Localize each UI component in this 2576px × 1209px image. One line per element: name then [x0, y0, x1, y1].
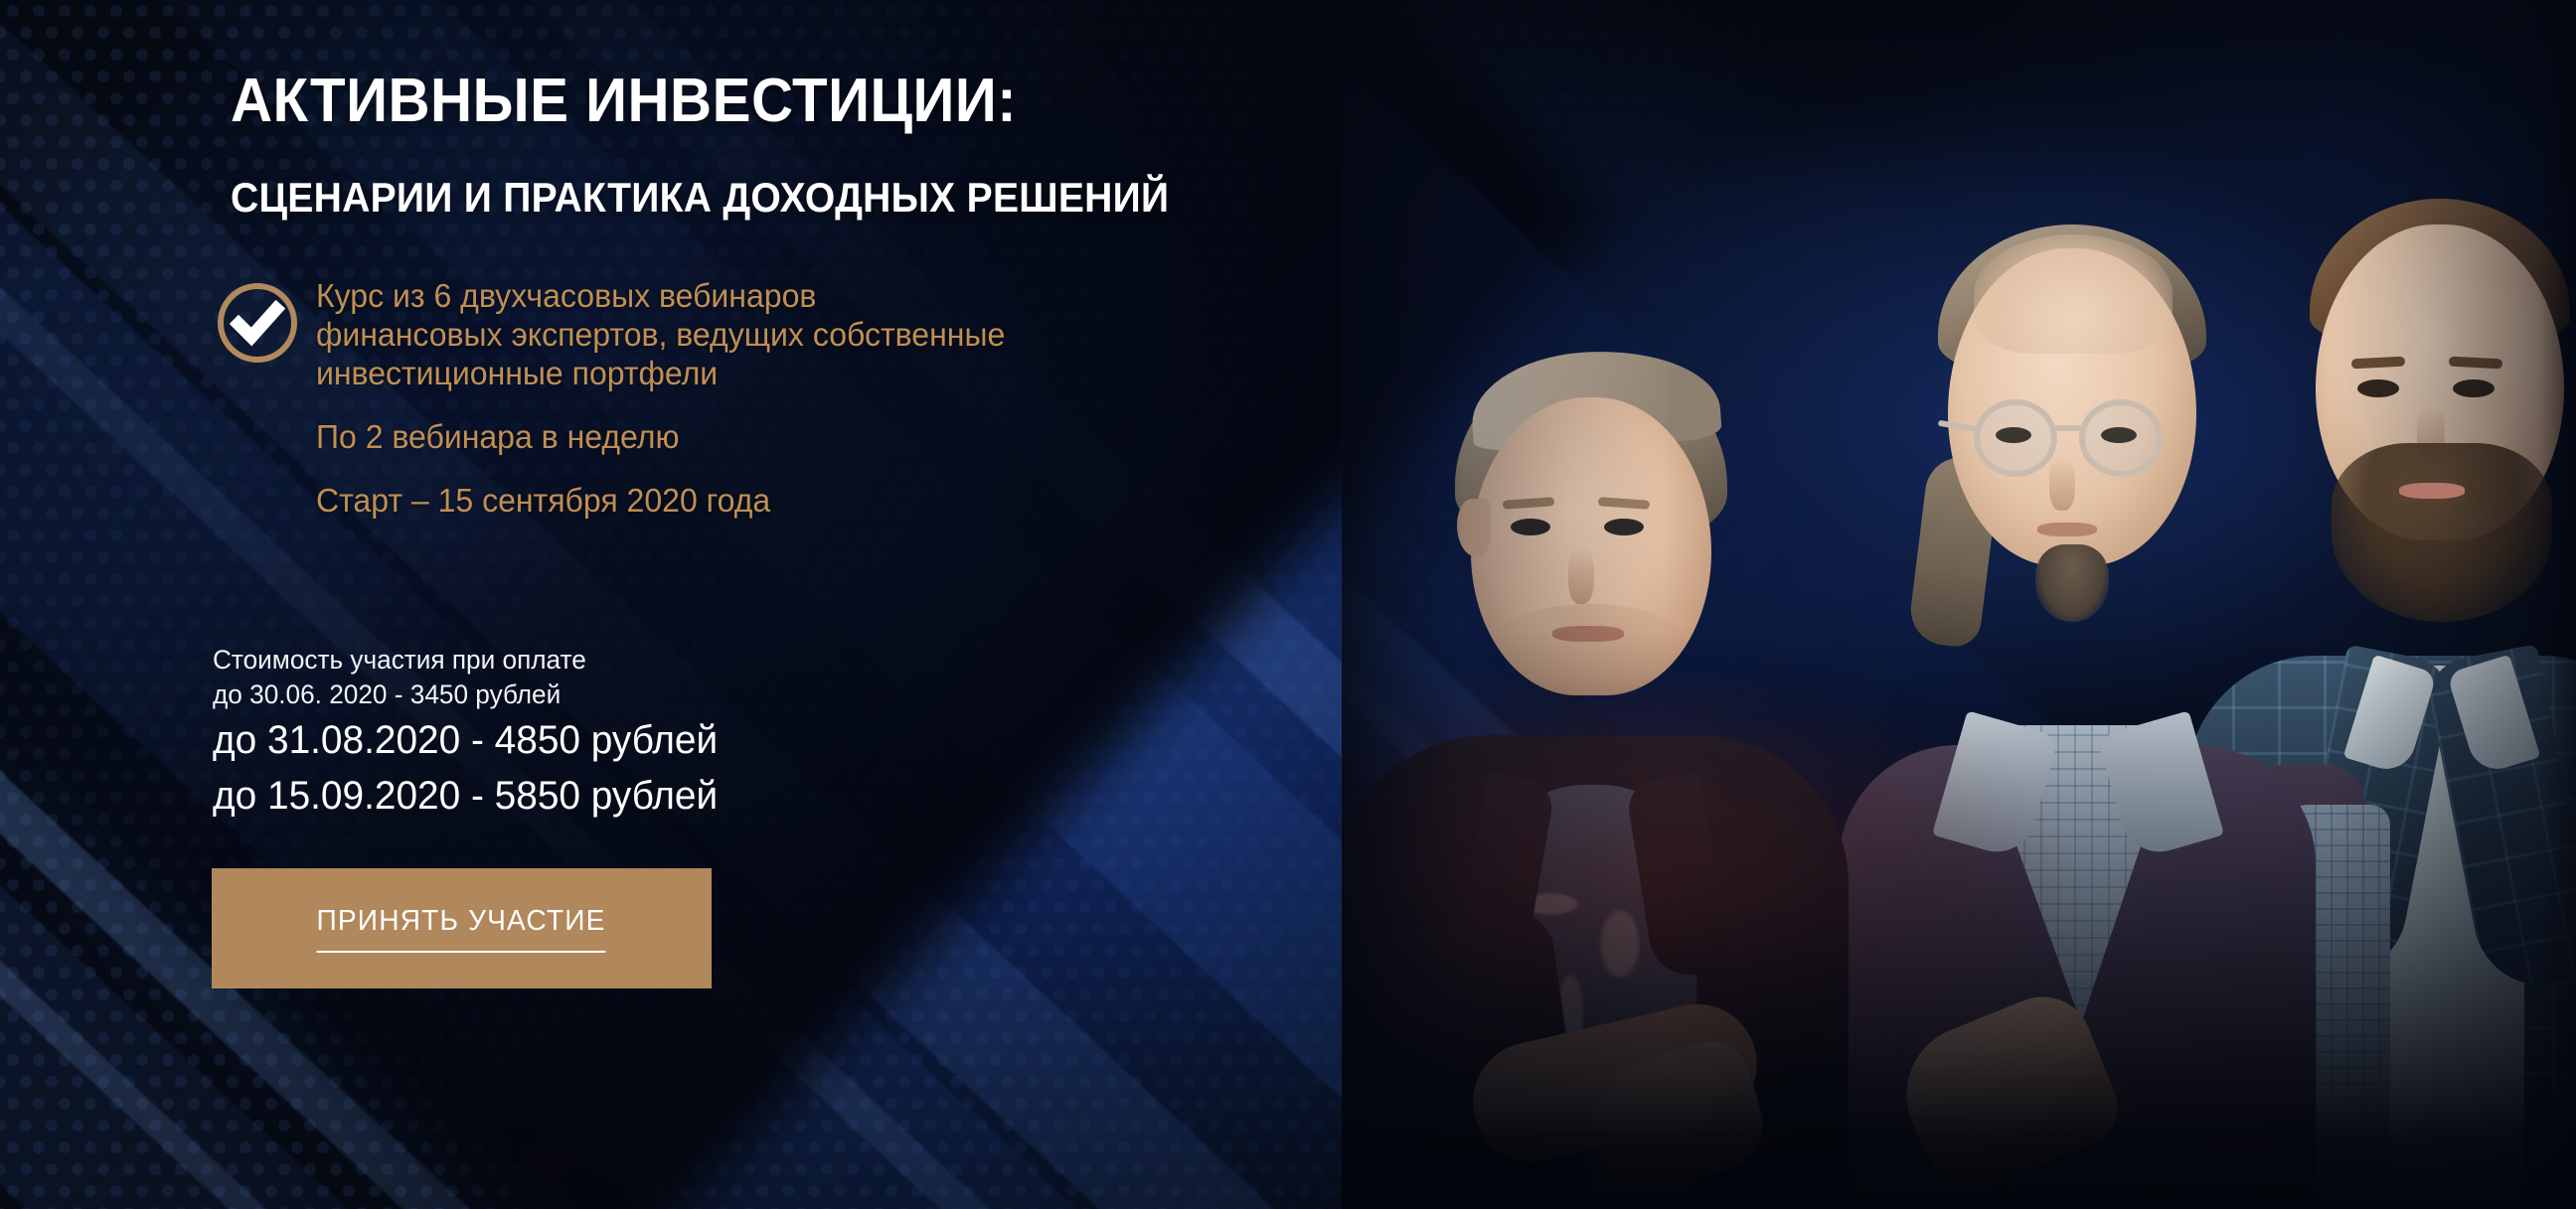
page-subtitle: СЦЕНАРИИ И ПРАКТИКА ДОХОДНЫХ РЕШЕНИЙ [231, 174, 1169, 222]
feature-list: Курс из 6 двухчасовых вебинаров финансов… [316, 276, 1369, 520]
feature-item-line: Старт – 15 сентября 2020 года [316, 481, 1338, 520]
pricing-tier-mid: до 31.08.2020 - 4850 рублей [213, 712, 718, 768]
feature-item-line: инвестиционные портфели [316, 354, 1338, 392]
experts-photo [1342, 0, 2576, 1209]
pricing-tier-early: до 30.06. 2020 - 3450 рублей [213, 677, 718, 712]
feature-item-line: финансовых экспертов, ведущих собственны… [316, 315, 1338, 354]
course-promo-banner: АКТИВНЫЕ ИНВЕСТИЦИИ: СЦЕНАРИИ И ПРАКТИКА… [0, 0, 2576, 1209]
join-course-button[interactable]: ПРИНЯТЬ УЧАСТИЕ [212, 868, 712, 988]
banner-content: АКТИВНЫЕ ИНВЕСТИЦИИ: СЦЕНАРИИ И ПРАКТИКА… [0, 0, 1491, 1209]
pricing-tier-late: до 15.09.2020 - 5850 рублей [213, 768, 718, 824]
pricing-heading: Стоимость участия при оплате [213, 644, 718, 677]
pricing-block: Стоимость участия при оплате до 30.06. 2… [213, 644, 733, 824]
page-title: АКТИВНЫЕ ИНВЕСТИЦИИ: [231, 66, 1017, 136]
photo-vignette [1342, 0, 2576, 1209]
feature-item-line: По 2 вебинара в неделю [316, 417, 1338, 456]
check-circle-icon [217, 282, 298, 364]
join-course-button-label: ПРИНЯТЬ УЧАСТИЕ [317, 905, 606, 953]
feature-item-line: Курс из 6 двухчасовых вебинаров [316, 276, 1338, 315]
